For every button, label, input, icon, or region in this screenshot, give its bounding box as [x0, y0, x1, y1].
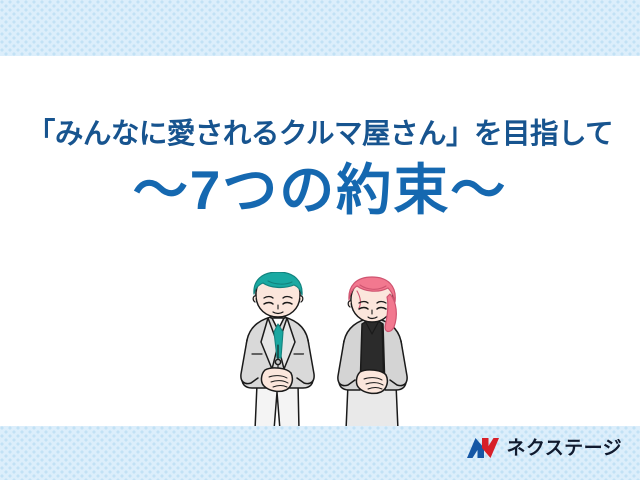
promo-banner: 「みんなに愛されるクルマ屋さん」を目指して 〜7つの約束〜	[0, 0, 640, 480]
brand-logo: ネクステージ	[466, 437, 622, 459]
brand-name-text: ネクステージ	[507, 439, 622, 458]
male-staff-figure	[241, 272, 314, 430]
nextage-n-mark-icon	[466, 437, 500, 459]
female-staff-figure	[338, 277, 407, 430]
headline-primary-text: 「みんなに愛されるクルマ屋さん」を目指して	[0, 118, 640, 151]
bowing-staff-illustration	[228, 272, 424, 430]
top-dotted-band	[0, 0, 640, 56]
headline-secondary-text: 〜7つの約束〜	[0, 160, 640, 222]
headline-block: 「みんなに愛されるクルマ屋さん」を目指して 〜7つの約束〜	[0, 118, 640, 221]
